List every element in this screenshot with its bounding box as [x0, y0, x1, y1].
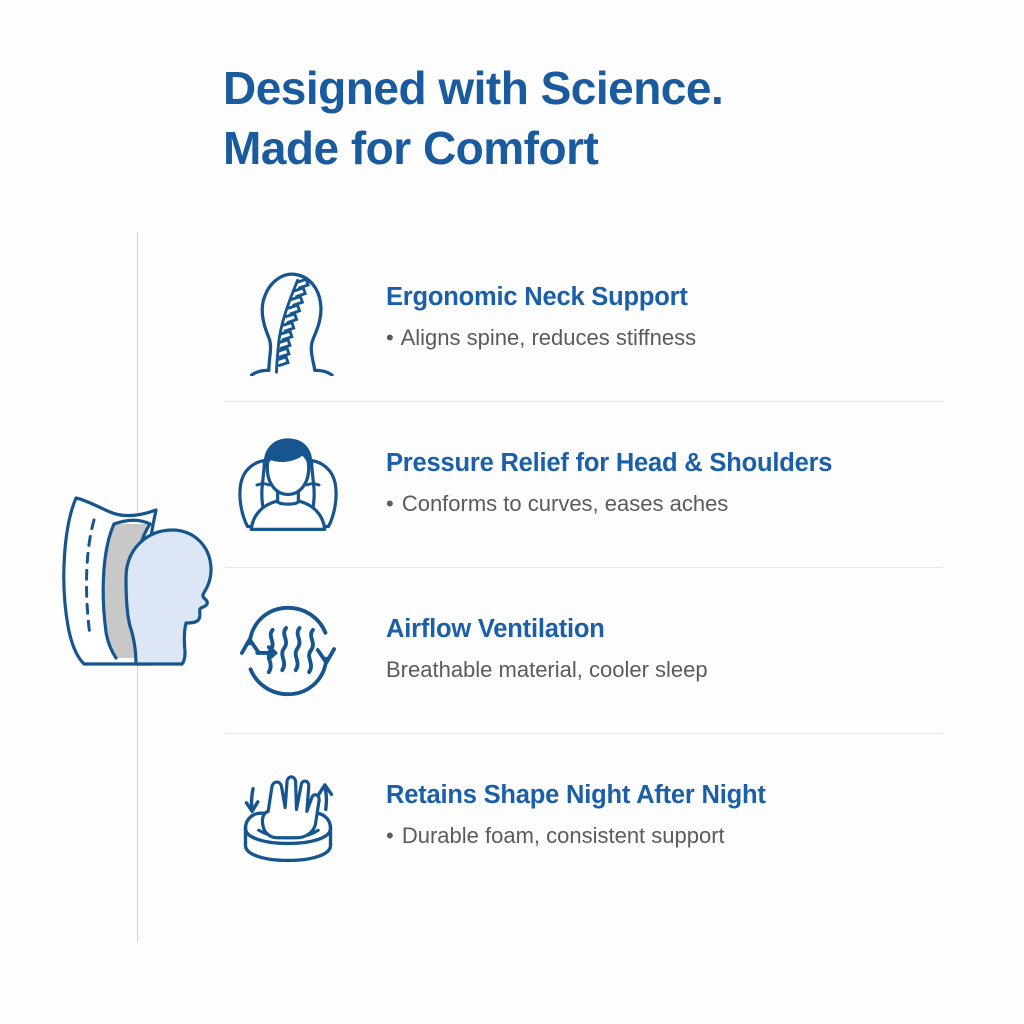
spine-neck-icon — [225, 259, 350, 379]
feature-subtitle: • Conforms to curves, eases aches — [386, 489, 945, 519]
feature-row[interactable]: Retains Shape Night After Night • Durabl… — [225, 734, 945, 900]
feature-row[interactable]: Airflow Ventilation Breathable material,… — [225, 568, 945, 734]
bullet-glyph: • — [386, 823, 396, 848]
bullet-glyph: • — [386, 491, 396, 516]
airflow-circulation-icon — [225, 591, 350, 711]
feature-text: Airflow Ventilation Breathable material,… — [350, 613, 945, 689]
feature-text: Retains Shape Night After Night • Durabl… — [350, 779, 945, 855]
feature-row[interactable]: Ergonomic Neck Support • Aligns spine, r… — [225, 236, 945, 402]
headline-line-1: Designed with Science. — [223, 58, 983, 118]
feature-text: Ergonomic Neck Support • Aligns spine, r… — [350, 281, 945, 357]
feature-subtitle-text: Conforms to curves, eases aches — [402, 491, 728, 516]
feature-subtitle: • Durable foam, consistent support — [386, 821, 945, 851]
feature-subtitle: • Aligns spine, reduces stiffness — [386, 323, 945, 353]
headline-line-2: Made for Comfort — [223, 118, 983, 178]
head-shoulders-pillow-icon — [225, 425, 350, 545]
pillow-head-profile-illustration — [44, 486, 224, 676]
feature-row[interactable]: Pressure Relief for Head & Shoulders • C… — [225, 402, 945, 568]
feature-subtitle-text: Breathable material, cooler sleep — [386, 657, 708, 682]
feature-title: Ergonomic Neck Support — [386, 281, 945, 313]
feature-text: Pressure Relief for Head & Shoulders • C… — [350, 447, 945, 523]
feature-subtitle-text: Durable foam, consistent support — [402, 823, 725, 848]
infographic-canvas: Designed with Science. Made for Comfort — [0, 0, 1024, 1024]
feature-title: Airflow Ventilation — [386, 613, 945, 645]
feature-title: Retains Shape Night After Night — [386, 779, 945, 811]
feature-subtitle: Breathable material, cooler sleep — [386, 655, 945, 685]
hand-pressing-foam-icon — [225, 757, 350, 877]
feature-list: Ergonomic Neck Support • Aligns spine, r… — [225, 236, 945, 900]
feature-subtitle-text: Aligns spine, reduces stiffness — [401, 325, 697, 350]
page-title: Designed with Science. Made for Comfort — [223, 58, 983, 178]
feature-title: Pressure Relief for Head & Shoulders — [386, 447, 945, 479]
bullet-glyph: • — [386, 325, 396, 350]
